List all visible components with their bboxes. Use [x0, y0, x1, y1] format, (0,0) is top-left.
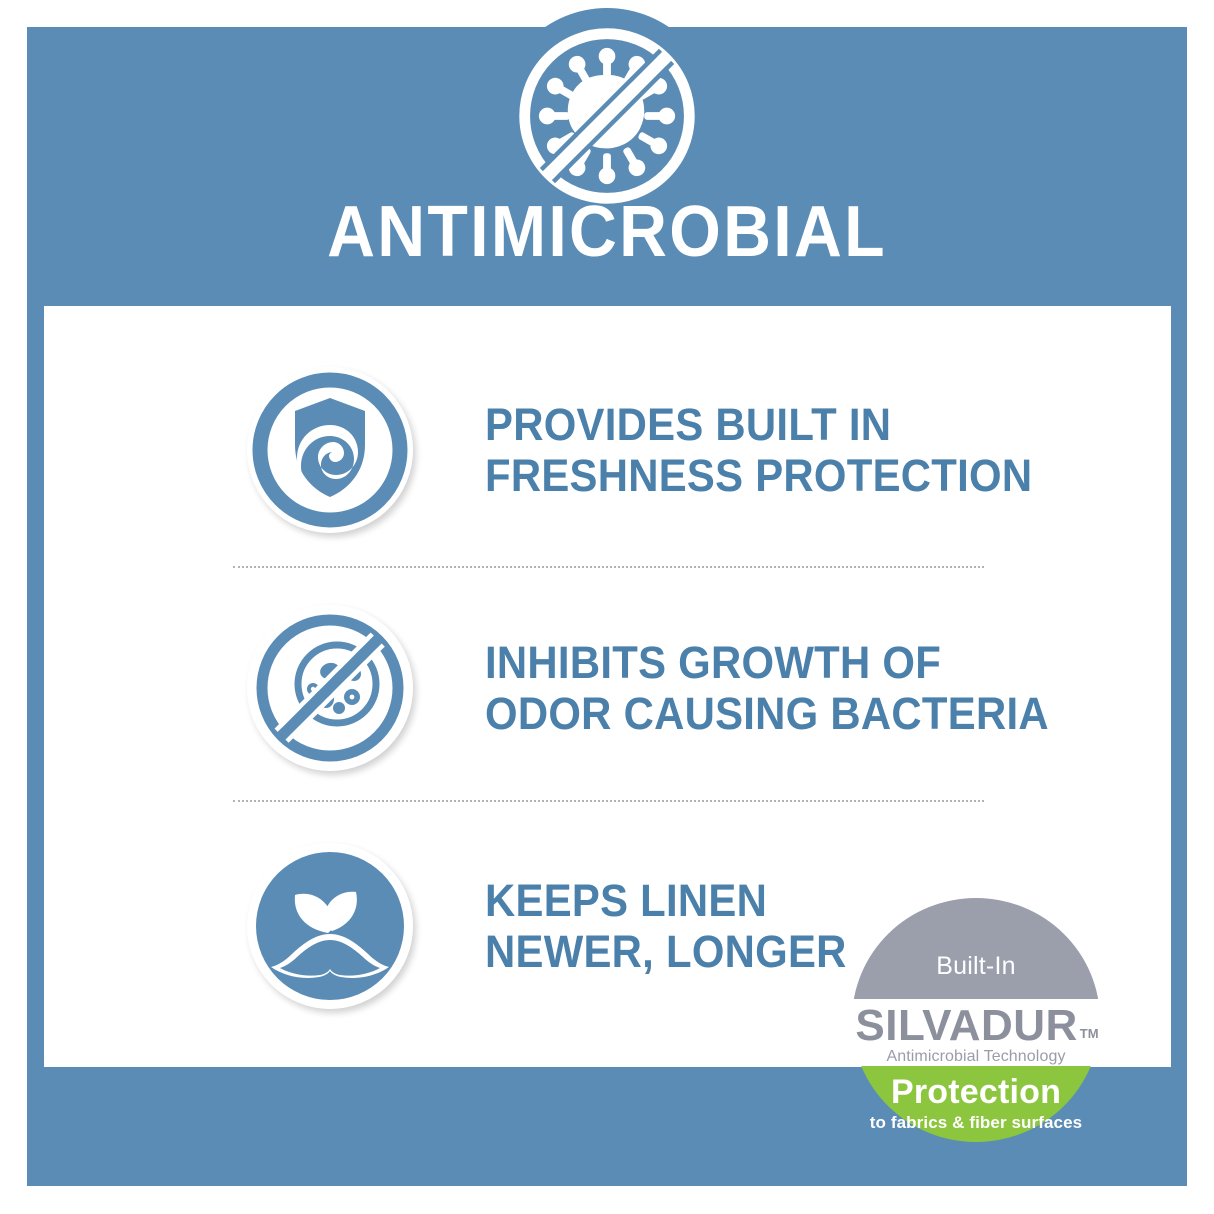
- badge-protection-label: Protection: [852, 1075, 1100, 1111]
- infographic-canvas: ANTIMICROBIAL PROVIDES BUILT IN FRESHNES…: [0, 0, 1214, 1214]
- badge-protection-sublabel: to fabrics & fiber surfaces: [852, 1113, 1100, 1133]
- feature-line-2: FRESHNESS PROTECTION: [485, 450, 1123, 501]
- feature-row: PROVIDES BUILT IN FRESHNESS PROTECTION: [44, 350, 1171, 550]
- feature-line-1: INHIBITS GROWTH OF: [485, 637, 1123, 688]
- trademark-mark: TM: [1080, 1026, 1099, 1041]
- feature-line-1: PROVIDES BUILT IN: [485, 399, 1123, 450]
- shield-swirl-icon: [247, 367, 413, 533]
- feature-text: INHIBITS GROWTH OF ODOR CAUSING BACTERIA: [485, 637, 1123, 740]
- divider: [233, 800, 984, 802]
- badge-brand-word: SILVADUR: [855, 1001, 1077, 1050]
- page-title: ANTIMICROBIAL: [49, 196, 1166, 268]
- leaf-linen-icon: [247, 843, 413, 1009]
- no-virus-icon: [509, 18, 705, 214]
- feature-row: INHIBITS GROWTH OF ODOR CAUSING BACTERIA: [44, 588, 1171, 788]
- feature-text: PROVIDES BUILT IN FRESHNESS PROTECTION: [485, 399, 1123, 502]
- feature-line-2: ODOR CAUSING BACTERIA: [485, 688, 1123, 739]
- divider: [233, 566, 984, 568]
- no-bacteria-magnifier-icon: [247, 605, 413, 771]
- badge-top-half: [852, 898, 1100, 999]
- badge-tagline: Antimicrobial Technology: [852, 1048, 1100, 1066]
- silvadur-badge: Built-In SILVADURTM Antimicrobial Techno…: [852, 898, 1100, 1142]
- badge-brand-name: SILVADURTM: [852, 1004, 1100, 1048]
- badge-built-in-label: Built-In: [852, 952, 1100, 981]
